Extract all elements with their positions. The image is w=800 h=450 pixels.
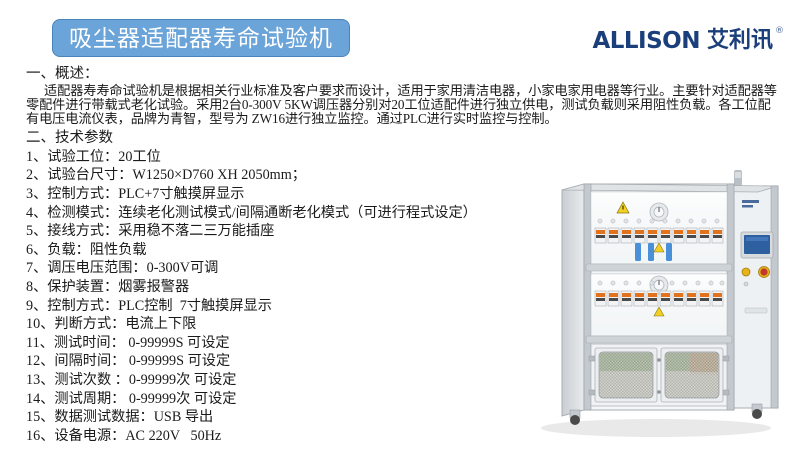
- specs-heading: 二、技术参数: [0, 130, 800, 148]
- door-lock-icon: [657, 390, 661, 394]
- machine-photo: [496, 164, 796, 447]
- lower-test-shelf: [591, 274, 727, 336]
- adapter-under-test: [635, 243, 672, 261]
- brand-latin-text: ALLISON: [592, 30, 700, 53]
- company-logo: ALLISON 艾利讯 ®: [592, 30, 784, 53]
- selector-switch: [744, 282, 748, 286]
- nameplate: [745, 308, 767, 313]
- title-banner: 吸尘器适配器寿命试验机: [52, 19, 350, 57]
- overview-line: 零配件进行带载式老化试验。采用2台0-300V 5KW调压器分别对20工位适配件…: [0, 98, 800, 112]
- upper-test-shelf: [591, 192, 727, 264]
- page-title: 吸尘器适配器寿命试验机: [69, 27, 333, 50]
- start-button: [742, 268, 750, 276]
- shelf-divider-beam: [586, 264, 732, 271]
- mesh-door-left: [595, 348, 657, 402]
- page-header: 吸尘器适配器寿命试验机 ALLISON 艾利讯 ®: [0, 0, 800, 68]
- brand-chinese-text: 艾利讯: [707, 30, 773, 52]
- trademark-icon: ®: [775, 26, 784, 36]
- door-lock-icon: [657, 358, 661, 362]
- overview-line: 有电压电流仪表，品牌为青智，型号为 ZW16进行独立监控。通过PLC进行实时监控…: [0, 112, 800, 126]
- lower-compartment: [589, 344, 729, 406]
- panel-logo: [742, 200, 759, 203]
- overview-heading: 一、概述：: [0, 66, 800, 84]
- mesh-door-right: [661, 348, 723, 402]
- rotary-dial: [650, 203, 668, 221]
- overview-line: 适配器寿寿命试验机是根据相关行业标准及客户要求而设计，适用于家用清洁电器，小家电…: [0, 84, 800, 98]
- shelf-divider-beam: [586, 336, 732, 343]
- hmi-touchscreen: [741, 232, 773, 258]
- emergency-stop-button: [759, 267, 770, 278]
